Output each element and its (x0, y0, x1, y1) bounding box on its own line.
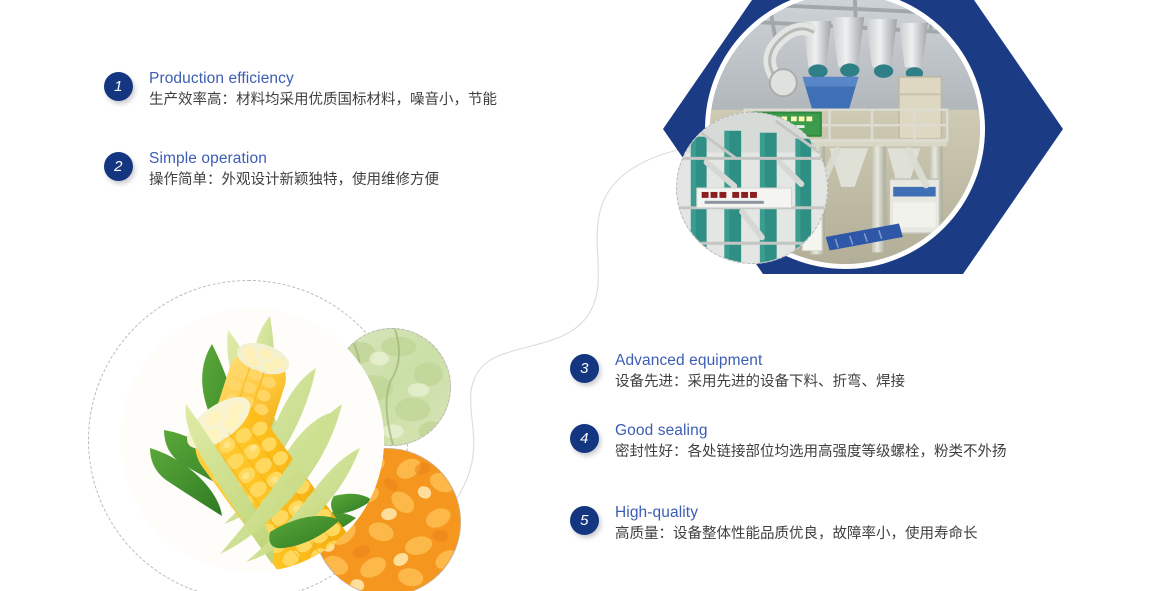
feature-heading-1: Production efficiency (149, 69, 497, 88)
feature-number-badge-5: 5 (570, 506, 599, 535)
feature-description-2: 操作简单：外观设计新颖独特，使用维修方便 (149, 169, 439, 191)
feature-heading-3: Advanced equipment (615, 351, 905, 370)
feature-heading-5: High-quality (615, 503, 978, 522)
feature-number-badge-4: 4 (570, 424, 599, 453)
feature-text-5: High-quality 高质量：设备整体性能品质优良，故障率小，使用寿命长 (615, 503, 978, 545)
small-circle-photo (676, 112, 828, 264)
feature-description-4: 密封性好：各处链接部位均选用高强度等级螺栓，粉类不外扬 (615, 441, 1007, 463)
feature-item-1[interactable]: 1 Production efficiency 生产效率高：材料均采用优质国标材… (104, 72, 497, 111)
feature-item-2[interactable]: 2 Simple operation 操作简单：外观设计新颖独特，使用维修方便 (104, 152, 439, 191)
feature-description-3: 设备先进：采用先进的设备下料、折弯、焊接 (615, 371, 905, 393)
feature-text-4: Good sealing 密封性好：各处链接部位均选用高强度等级螺栓，粉类不外扬 (615, 421, 1007, 463)
feature-item-3[interactable]: 3 Advanced equipment 设备先进：采用先进的设备下料、折弯、焊… (570, 354, 905, 393)
feature-text-1: Production efficiency 生产效率高：材料均采用优质国标材料，… (149, 69, 497, 111)
feature-heading-4: Good sealing (615, 421, 1007, 440)
feature-number-badge-2: 2 (104, 152, 133, 181)
feature-text-3: Advanced equipment 设备先进：采用先进的设备下料、折弯、焊接 (615, 351, 905, 393)
corn-on-the-cob-photo (120, 308, 384, 572)
feature-number-badge-3: 3 (570, 354, 599, 383)
feature-description-5: 高质量：设备整体性能品质优良，故障率小，使用寿命长 (615, 523, 978, 545)
feature-number-badge-1: 1 (104, 72, 133, 101)
feature-description-1: 生产效率高：材料均采用优质国标材料，噪音小，节能 (149, 89, 497, 111)
green-milling-machinery-photo (677, 113, 827, 263)
corn-main-circle (120, 308, 384, 572)
feature-item-4[interactable]: 4 Good sealing 密封性好：各处链接部位均选用高强度等级螺栓，粉类不… (570, 424, 1007, 463)
feature-text-2: Simple operation 操作简单：外观设计新颖独特，使用维修方便 (149, 149, 439, 191)
feature-item-5[interactable]: 5 High-quality 高质量：设备整体性能品质优良，故障率小，使用寿命长 (570, 506, 978, 545)
infographic-canvas: 1 Production efficiency 生产效率高：材料均采用优质国标材… (0, 0, 1154, 591)
feature-heading-2: Simple operation (149, 149, 439, 168)
